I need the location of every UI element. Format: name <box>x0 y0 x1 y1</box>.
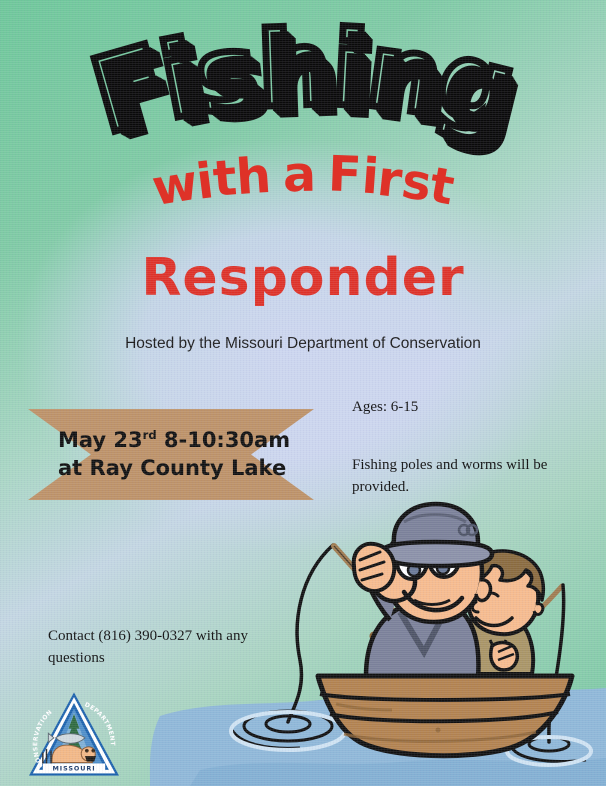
boy-figure <box>452 551 543 674</box>
ripple-right <box>512 737 586 762</box>
event-date-prefix: May 23 <box>58 428 143 452</box>
title-block: Fishing with a First Responder Hosted by… <box>0 22 606 222</box>
title-char: h <box>235 151 273 202</box>
man-figure <box>354 504 492 678</box>
hat-emblem-icon <box>459 525 477 535</box>
logo-bear-icon <box>52 745 96 762</box>
title-char: h <box>256 16 334 123</box>
title-line-1: Fishing <box>0 22 606 126</box>
title-line-2: with a First <box>0 152 606 201</box>
logo-text-bottom: MISSOURI <box>53 764 96 772</box>
ripple-right-highlight <box>507 737 591 765</box>
fishing-rod-man <box>334 546 400 668</box>
event-date-ordinal: rd <box>143 428 157 442</box>
event-time: 8-10:30am <box>157 428 291 452</box>
ripple-left-highlight <box>231 712 345 750</box>
fishing-line-right <box>549 585 564 742</box>
title-space <box>271 152 283 201</box>
ages-note: Ages: 6-15 <box>352 397 418 419</box>
title-line-3: Responder <box>0 248 606 308</box>
flyer-poster: Fishing with a First Responder Hosted by… <box>0 0 606 786</box>
title-char: F <box>327 149 362 199</box>
missouri-conservation-logo-icon: CONSERVATION DEPARTMENT MISSOURI <box>28 692 120 780</box>
title-line-2-letters: with a First <box>151 152 456 201</box>
title-char: w <box>149 158 201 213</box>
event-location: at Ray County Lake <box>58 455 314 483</box>
ripple-left <box>232 711 332 748</box>
title-char: s <box>190 19 264 130</box>
event-banner-text: May 23rd 8-10:30am at Ray County Lake <box>28 409 314 500</box>
hosted-by-line: Hosted by the Missouri Department of Con… <box>0 335 606 353</box>
title-char: a <box>283 150 317 200</box>
event-date-time: May 23rd 8-10:30am <box>58 427 314 455</box>
fishing-rod-boy <box>497 586 562 650</box>
contact-note: Contact (816) 390-0327 with any question… <box>48 626 298 670</box>
rowboat-icon <box>318 676 572 756</box>
water-icon <box>150 688 606 786</box>
supplies-note: Fishing poles and worms will be provided… <box>352 455 562 499</box>
title-line-1-letters: Fishing <box>90 22 517 126</box>
